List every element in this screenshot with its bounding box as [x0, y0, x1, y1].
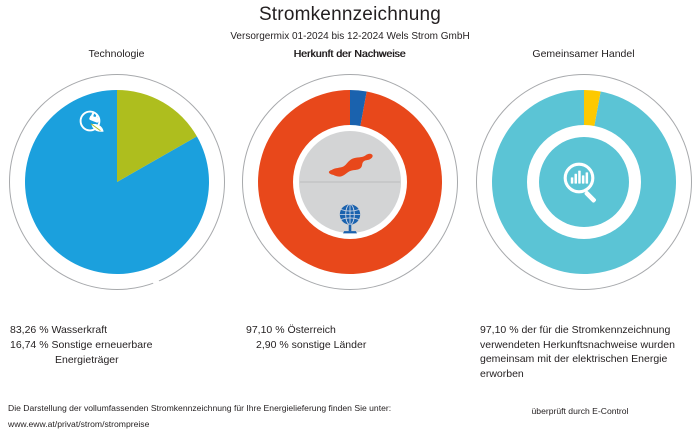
- chart-title-technologie: Technologie: [0, 48, 233, 60]
- chart-title-herkunft: Herkunft der Nachweise: [233, 48, 466, 60]
- chart-column-handel: Gemeinsamer Handel: [467, 0, 700, 438]
- legend-row-oesterreich: 97,10 % Österreich: [246, 323, 466, 338]
- footer-note-line1: Die Darstellung der vollumfassenden Stro…: [8, 400, 391, 416]
- chart-column-herkunft: Herkunft der Nachweise: [233, 0, 466, 438]
- legend-herkunft: 97,10 % Österreich 2,90 % sonstige Lände…: [233, 323, 466, 353]
- footer-note: Die Darstellung der vollumfassenden Stro…: [8, 400, 391, 432]
- hydro-power-icon: [144, 273, 170, 290]
- chart-column-technologie: Technologie: [0, 0, 233, 438]
- chart-title-handel: Gemeinsamer Handel: [467, 48, 700, 60]
- legend-row-sonstige-cont: Energieträger: [10, 353, 233, 368]
- verified-by-label: überprüft durch E-Control: [467, 406, 693, 416]
- legend-row-sonstige: 16,74 % Sonstige erneuerbare: [10, 338, 233, 353]
- legend-row-sonstige-laender: 2,90 % sonstige Länder: [246, 338, 466, 353]
- donut-chart-handel: [476, 74, 692, 290]
- legend-handel: 97,10 % der für die Stromkennzeichnung v…: [467, 323, 693, 381]
- donut-svg-handel: [476, 74, 692, 290]
- legend-row-wasserkraft: 83,26 % Wasserkraft: [10, 323, 233, 338]
- footer-note-url[interactable]: www.eww.at/privat/strom/strompreise: [8, 416, 391, 432]
- pie-svg-technologie: [9, 74, 225, 290]
- donut-svg-herkunft: [242, 74, 458, 290]
- donut-chart-herkunft: [242, 74, 458, 290]
- legend-technologie: 83,26 % Wasserkraft 16,74 % Sonstige ern…: [0, 323, 233, 368]
- pie-chart-technologie: [9, 74, 225, 290]
- pie-slices: [25, 90, 209, 274]
